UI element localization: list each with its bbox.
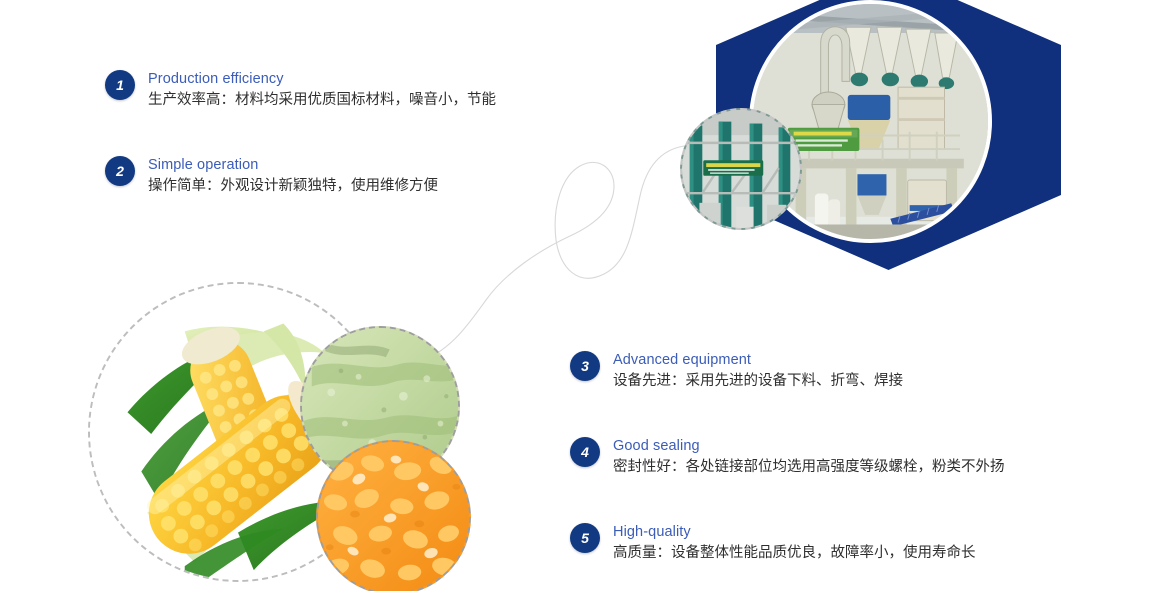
- feature-badge-4: 4: [570, 437, 600, 467]
- feature-text-5: High-quality 高质量：设备整体性能品质优良，故障率小，使用寿命长: [613, 523, 1090, 564]
- feature-desc-2: 操作简单：外观设计新颖独特，使用维修方便: [148, 175, 575, 197]
- feature-row-5: 5 High-quality 高质量：设备整体性能品质优良，故障率小，使用寿命长: [570, 523, 1090, 564]
- feature-desc-5: 高质量：设备整体性能品质优良，故障率小，使用寿命长: [613, 542, 1090, 564]
- feature-text-4: Good sealing 密封性好：各处链接部位均选用高强度等级螺栓，粉类不外扬: [613, 437, 1090, 478]
- feature-row-4: 4 Good sealing 密封性好：各处链接部位均选用高强度等级螺栓，粉类不…: [570, 437, 1090, 478]
- hexagon-photo-group: [676, 0, 1096, 270]
- feature-desc-3: 设备先进：采用先进的设备下料、折弯、焊接: [613, 370, 1090, 392]
- feature-infographic: 1 Production efficiency 生产效率高：材料均采用优质国标材…: [0, 0, 1154, 591]
- feature-list-left: 1 Production efficiency 生产效率高：材料均采用优质国标材…: [105, 70, 575, 197]
- feature-text-1: Production efficiency 生产效率高：材料均采用优质国标材料，…: [148, 70, 575, 111]
- feature-title-4: Good sealing: [613, 437, 1090, 455]
- feature-badge-1: 1: [105, 70, 135, 100]
- feature-row-2: 2 Simple operation 操作简单：外观设计新颖独特，使用维修方便: [105, 156, 575, 197]
- feature-badge-2: 2: [105, 156, 135, 186]
- feature-title-1: Production efficiency: [148, 70, 575, 88]
- feature-badge-5: 5: [570, 523, 600, 553]
- feature-list-right: 3 Advanced equipment 设备先进：采用先进的设备下料、折弯、焊…: [570, 351, 1090, 564]
- feature-badge-3: 3: [570, 351, 600, 381]
- feature-desc-1: 生产效率高：材料均采用优质国标材料，噪音小，节能: [148, 89, 575, 111]
- inset-photo-processing-line: [680, 108, 802, 230]
- feature-row-3: 3 Advanced equipment 设备先进：采用先进的设备下料、折弯、焊…: [570, 351, 1090, 392]
- feature-row-1: 1 Production efficiency 生产效率高：材料均采用优质国标材…: [105, 70, 575, 111]
- corn-photo-group: [88, 282, 473, 591]
- feature-title-3: Advanced equipment: [613, 351, 1090, 369]
- feature-title-2: Simple operation: [148, 156, 575, 174]
- feature-text-2: Simple operation 操作简单：外观设计新颖独特，使用维修方便: [148, 156, 575, 197]
- feature-title-5: High-quality: [613, 523, 1090, 541]
- corn-grits-photo: [316, 440, 471, 591]
- feature-desc-4: 密封性好：各处链接部位均选用高强度等级螺栓，粉类不外扬: [613, 456, 1090, 478]
- feature-text-3: Advanced equipment 设备先进：采用先进的设备下料、折弯、焊接: [613, 351, 1090, 392]
